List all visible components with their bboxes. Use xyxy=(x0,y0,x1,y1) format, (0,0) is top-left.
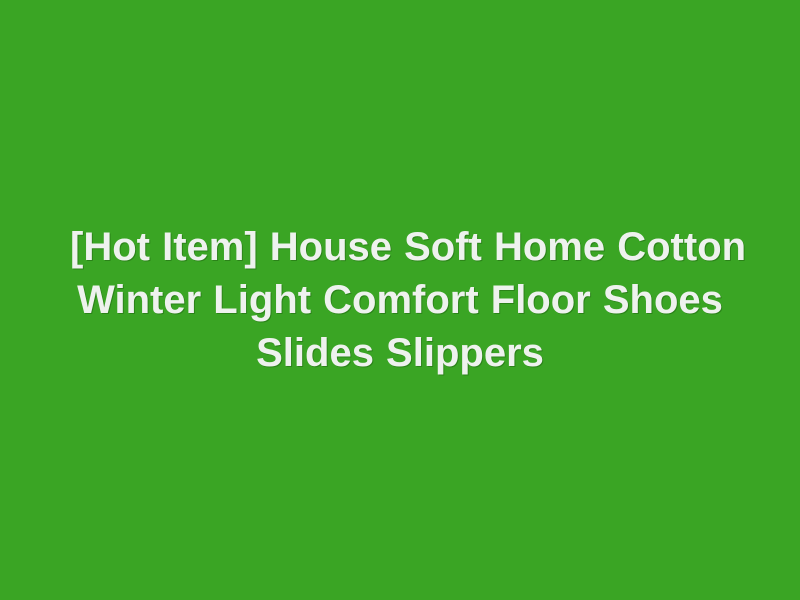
product-title-block: [Hot Item] House Soft Home Cotton Winter… xyxy=(60,221,740,380)
product-title-line-3: Slides Slippers xyxy=(70,327,730,380)
product-title: [Hot Item] House Soft Home Cotton Winter… xyxy=(70,221,730,380)
product-title-line-2: Winter Light Comfort Floor Shoes xyxy=(70,274,730,327)
product-title-line-1: [Hot Item] House Soft Home Cotton xyxy=(70,221,730,274)
product-image-placeholder: [Hot Item] House Soft Home Cotton Winter… xyxy=(0,0,800,600)
